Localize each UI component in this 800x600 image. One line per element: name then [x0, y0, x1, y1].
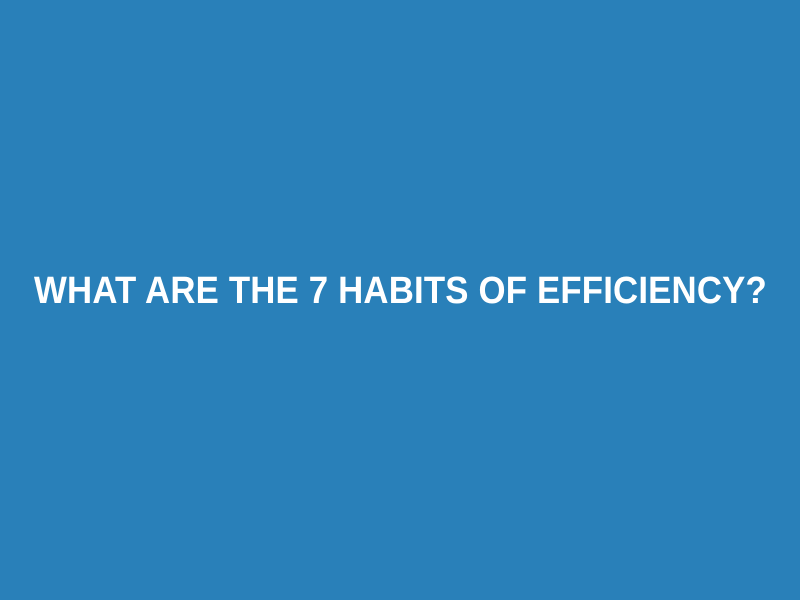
- page-title: WHAT ARE THE 7 HABITS OF EFFICIENCY?: [34, 272, 767, 312]
- featured-image-card: WHAT ARE THE 7 HABITS OF EFFICIENCY?: [0, 0, 800, 600]
- title-container: WHAT ARE THE 7 HABITS OF EFFICIENCY?: [0, 272, 800, 312]
